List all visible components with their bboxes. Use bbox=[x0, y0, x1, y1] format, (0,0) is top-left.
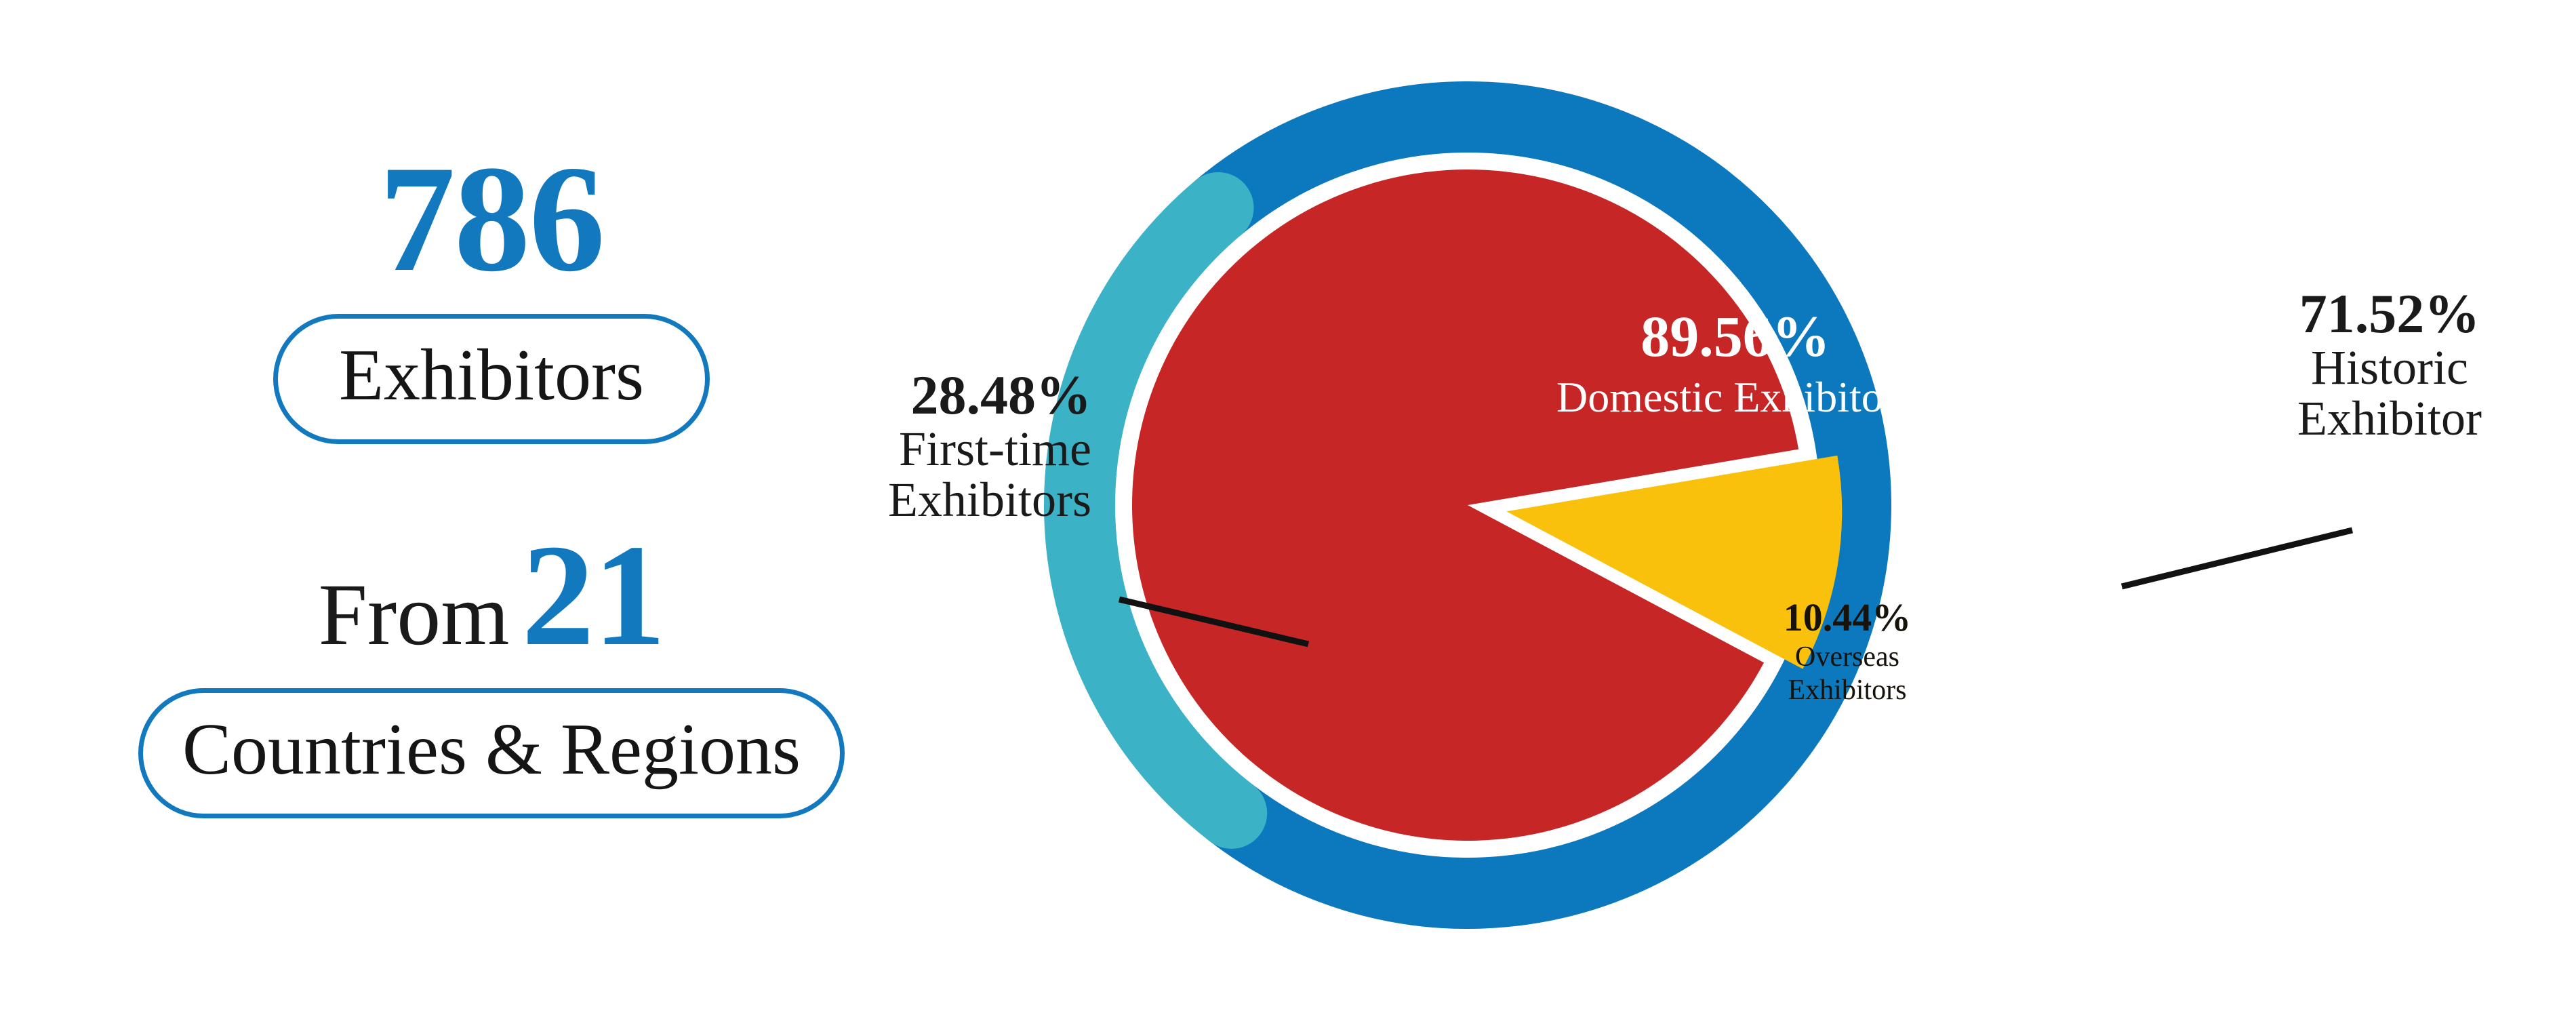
pie-label-overseas-exhibitors: 10.44% Overseas Exhibitors bbox=[1735, 597, 1959, 706]
historic-label-line2: Exhibitor bbox=[2244, 393, 2535, 444]
overseas-label-line1: Overseas bbox=[1735, 642, 1959, 673]
first-time-label-line1: First-time bbox=[800, 424, 1091, 475]
callout-historic-exhibitor: 71.52% Historic Exhibitor bbox=[2244, 285, 2535, 444]
domestic-percent: 89.56% bbox=[1464, 305, 2007, 368]
overseas-label-line2: Exhibitors bbox=[1735, 675, 1959, 706]
historic-percent: 71.52% bbox=[2244, 285, 2535, 342]
leader-line-historic bbox=[2122, 530, 2352, 586]
exhibitors-pill-label: Exhibitors bbox=[273, 314, 710, 444]
stat-block-exhibitors: 786 Exhibitors bbox=[102, 142, 881, 444]
stat-block-countries: From 21 Countries & Regions bbox=[102, 522, 881, 818]
first-time-label-line2: Exhibitors bbox=[800, 475, 1091, 525]
countries-pill-label: Countries & Regions bbox=[138, 688, 845, 818]
callout-first-time-exhibitors: 28.48% First-time Exhibitors bbox=[800, 366, 1091, 525]
domestic-label: Domestic Exhibitors bbox=[1464, 374, 2007, 420]
exhibitors-count: 786 bbox=[102, 142, 881, 295]
donut-pie-chart-svg bbox=[902, 0, 2576, 1017]
countries-count: 21 bbox=[521, 522, 664, 668]
historic-label-line1: Historic bbox=[2244, 342, 2535, 393]
infographic-canvas: 786 Exhibitors From 21 Countries & Regio… bbox=[0, 0, 2576, 1017]
stats-panel: 786 Exhibitors From 21 Countries & Regio… bbox=[102, 142, 881, 888]
exhibitor-chart bbox=[902, 0, 2576, 1017]
first-time-percent: 28.48% bbox=[800, 366, 1091, 424]
countries-headline: From 21 bbox=[102, 522, 881, 668]
overseas-percent: 10.44% bbox=[1735, 597, 1959, 639]
pie-label-domestic-exhibitors: 89.56% Domestic Exhibitors bbox=[1464, 305, 2007, 420]
countries-prefix: From bbox=[319, 571, 510, 659]
